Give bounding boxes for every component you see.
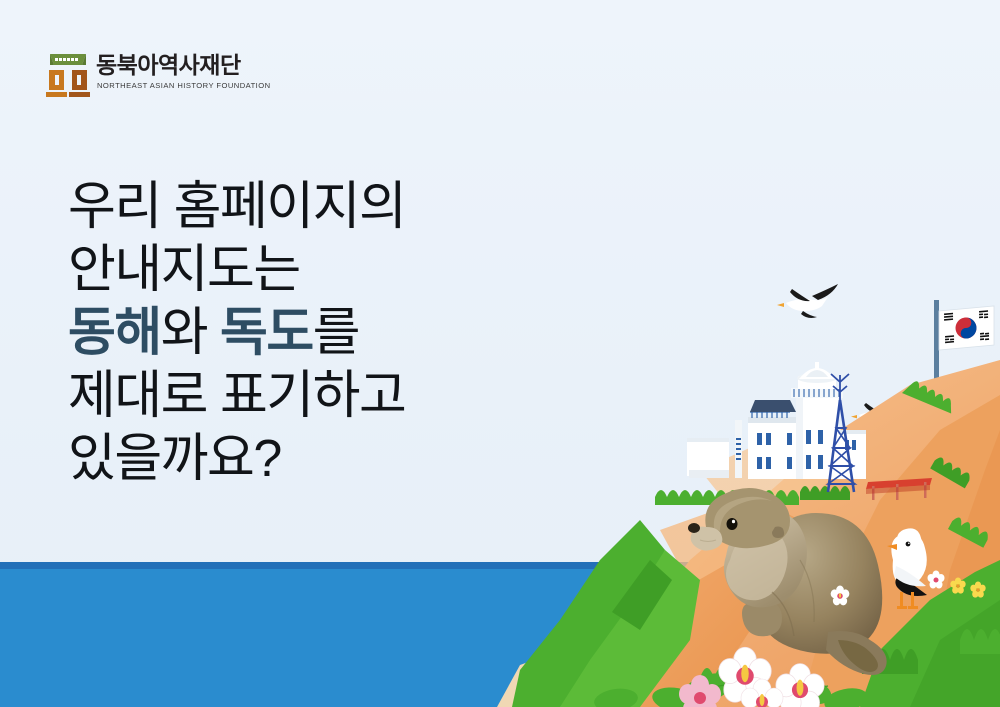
headline-text: 제대로 표기하고	[68, 367, 405, 425]
headline-line-5: 있을까요?	[68, 428, 628, 491]
flying-seagull-upper	[777, 284, 838, 318]
site-logo[interactable]: 동북아역사재단 NORTHEAST ASIAN HISTORY FOUNDATI…	[46, 50, 246, 100]
headline-text: 안내지도는	[68, 241, 300, 299]
logo-english-name: NORTHEAST ASIAN HISTORY FOUNDATION	[97, 81, 271, 90]
headline-line-2: 안내지도는	[68, 239, 628, 302]
headline-text: 우리 홈페이지의	[68, 178, 405, 236]
poster-canvas: 동북아역사재단 NORTHEAST ASIAN HISTORY FOUNDATI…	[0, 0, 1000, 707]
headline-line-3: 동해와 독도를	[68, 302, 628, 365]
headline-line-1: 우리 홈페이지의	[68, 176, 628, 239]
headline-text: 있을까요?	[68, 430, 281, 488]
headline-accent-word: 독도	[220, 304, 313, 362]
korean-flag	[939, 306, 994, 350]
foundation-emblem-icon	[46, 52, 90, 98]
headline-text: 와	[161, 304, 220, 362]
headline-accent-word: 동해	[68, 304, 161, 362]
logo-korean-name: 동북아역사재단	[96, 52, 241, 78]
page-headline: 우리 홈페이지의안내지도는동해와 독도를제대로 표기하고있을까요?	[68, 176, 628, 491]
headline-text: 를	[313, 304, 359, 362]
headline-line-4: 제대로 표기하고	[68, 365, 628, 428]
